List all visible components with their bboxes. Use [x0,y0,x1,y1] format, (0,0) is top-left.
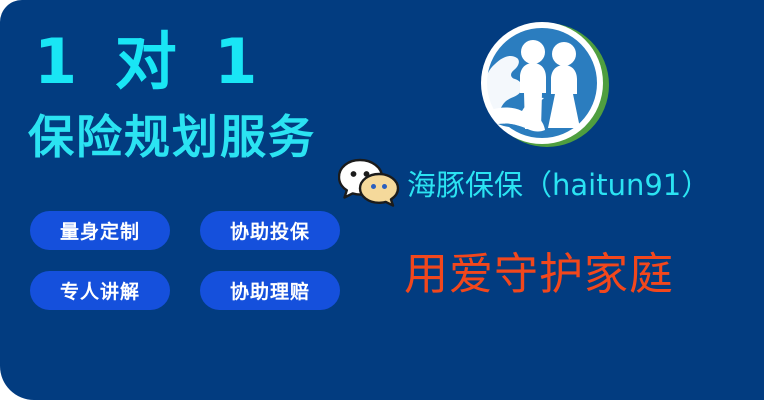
feature-pill-custom[interactable]: 量身定制 [30,211,170,250]
wechat-handle-text: 海豚保保（haitun91） [407,162,710,204]
feature-pill-label: 量身定制 [60,217,140,244]
feature-pill-claim-assist[interactable]: 协助理赔 [200,271,340,310]
headline-secondary: 保险规划服务 [28,110,316,164]
feature-pill-label: 专人讲解 [60,277,140,304]
feature-pill-apply-assist[interactable]: 协助投保 [200,211,340,250]
feature-pill-label: 协助投保 [230,217,310,244]
promo-banner: 1 对 1 保险规划服务 量身定制 协助投保 专人讲解 协助理赔 [0,0,764,400]
feature-pill-label: 协助理赔 [230,277,310,304]
wechat-contact-row[interactable]: 海豚保保（haitun91） [338,158,710,208]
wechat-icon [338,158,400,208]
feature-pill-group: 量身定制 协助投保 专人讲解 协助理赔 [30,211,340,310]
feature-pill-expert-explain[interactable]: 专人讲解 [30,271,170,310]
slogan-text: 用爱守护家庭 [404,250,674,300]
headline-primary: 1 对 1 [34,28,265,96]
globe-family-dolphin-logo [478,18,610,150]
